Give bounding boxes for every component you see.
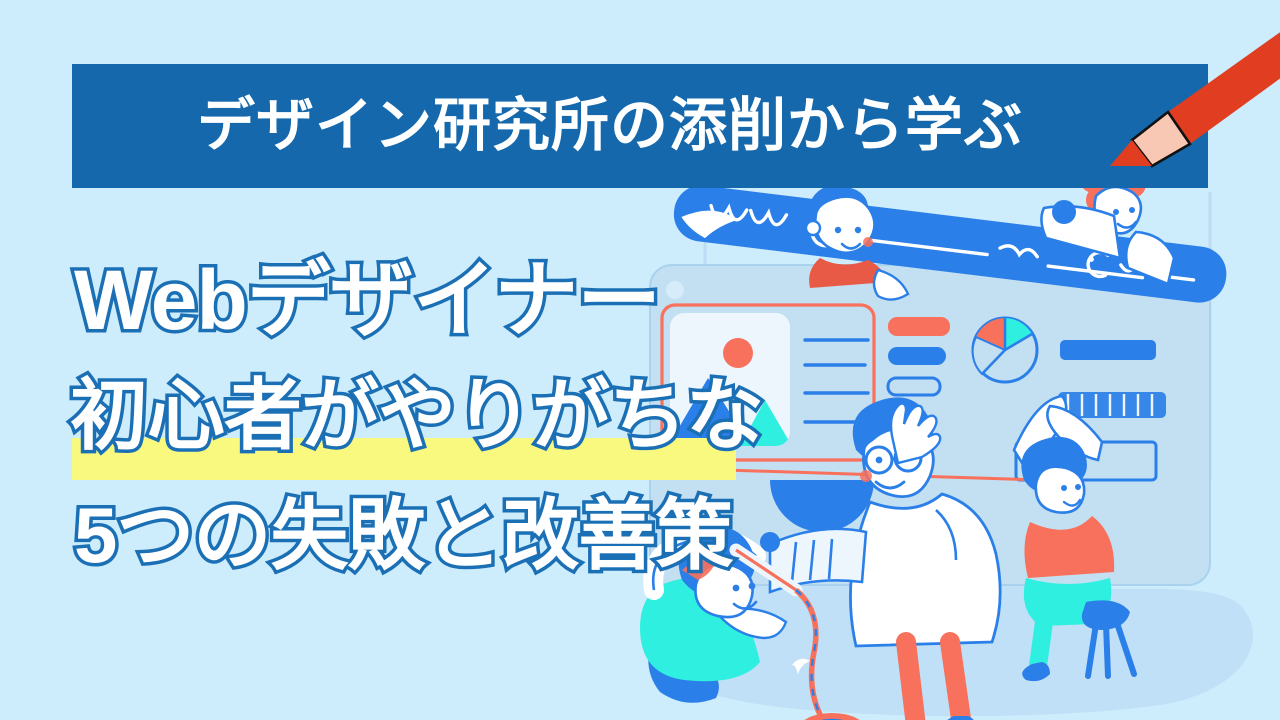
cta-button-blue — [888, 347, 946, 365]
headline-line-3-row: 5つの失敗と改善策 — [60, 496, 860, 606]
pie-chart — [973, 318, 1037, 382]
block-blue-right — [1060, 340, 1156, 360]
cta-button-red — [888, 317, 950, 336]
headline-block: Webデザイナー 初心者がやりがちな 5つの失敗と改善策 — [60, 258, 860, 606]
headline-line-2-row: 初心者がやりがちな — [60, 376, 860, 496]
lab-coat — [850, 494, 1000, 646]
pencil-icon — [1090, 40, 1280, 180]
headline-line-2: 初心者がやりがちな — [60, 376, 860, 454]
headline-line-3: 5つの失敗と改善策 — [60, 496, 860, 574]
banner: デザイン研究所の添削から学ぶ — [72, 64, 1208, 188]
banner-title: デザイン研究所の添削から学ぶ — [72, 64, 1208, 188]
headline-line-1-row: Webデザイナー — [60, 258, 860, 376]
headline-line-1: Webデザイナー — [60, 258, 860, 342]
paper-person-hand — [1052, 200, 1076, 224]
poster-canvas: デザイン研究所の添削から学ぶ Webデザイナー 初心者がやりがちな 5つの失敗と… — [0, 0, 1280, 720]
